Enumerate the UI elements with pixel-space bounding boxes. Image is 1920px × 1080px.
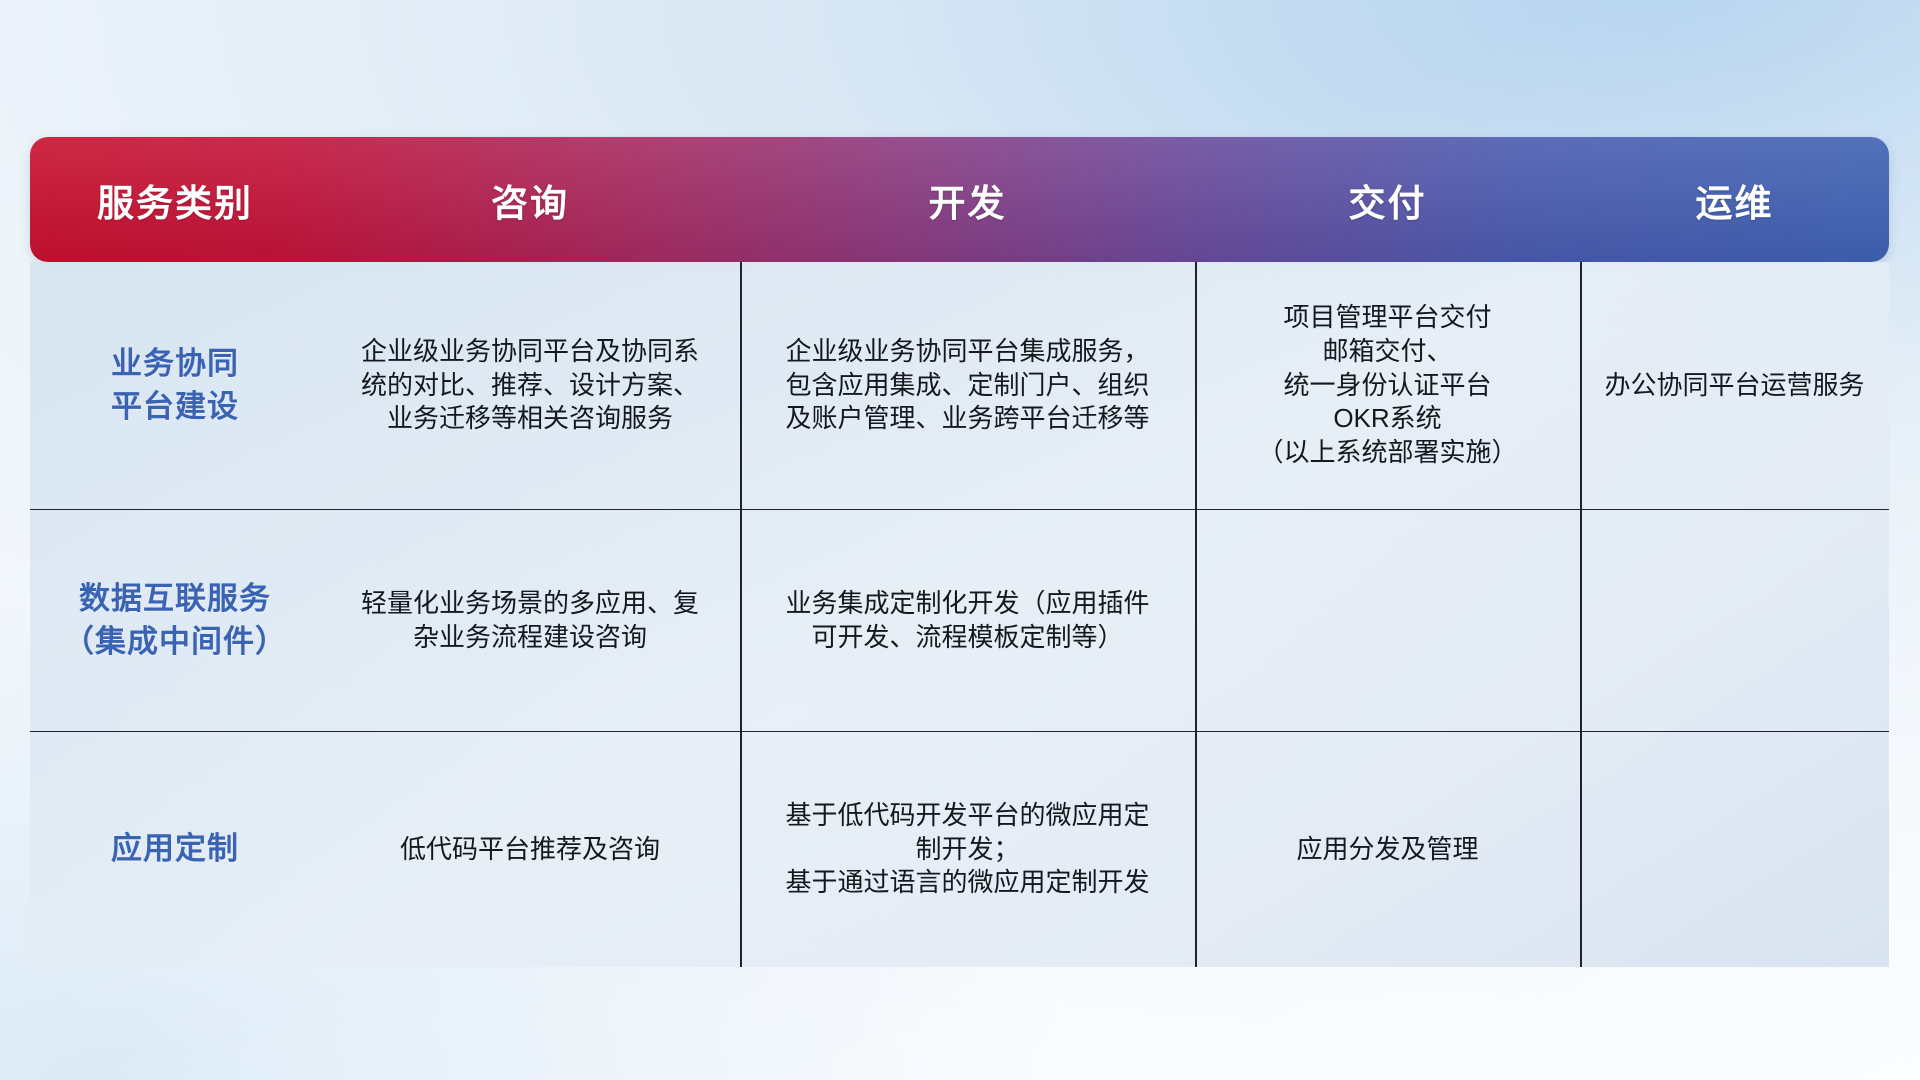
- table-row: 应用定制 低代码平台推荐及咨询 基于低代码开发平台的微应用定 制开发； 基于通过…: [30, 732, 1889, 967]
- cell-development: 基于低代码开发平台的微应用定 制开发； 基于通过语言的微应用定制开发: [740, 732, 1195, 967]
- column-divider-consulting-development: [740, 732, 742, 967]
- column-divider-development-delivery: [1195, 510, 1197, 731]
- column-divider-consulting-development: [740, 510, 742, 731]
- cell-delivery: 项目管理平台交付 邮箱交付、 统一身份认证平台 OKR系统 （以上系统部署实施）: [1195, 262, 1580, 509]
- table-row: 业务协同 平台建设 企业级业务协同平台及协同系 统的对比、推荐、设计方案、 业务…: [30, 262, 1889, 510]
- column-header-category: 服务类别: [30, 173, 320, 227]
- column-divider-delivery-operations: [1580, 262, 1582, 509]
- cell-category: 应用定制: [30, 732, 320, 967]
- cell-development: 业务集成定制化开发（应用插件 可开发、流程模板定制等）: [740, 510, 1195, 731]
- service-matrix-table: 服务类别 咨询 开发 交付 运维 业务协同 平台建设 企业级业务协同平台及协同系…: [30, 137, 1889, 967]
- table-row: 数据互联服务 （集成中间件） 轻量化业务场景的多应用、复 杂业务流程建设咨询 业…: [30, 510, 1889, 732]
- cell-delivery: 应用分发及管理: [1195, 732, 1580, 967]
- column-header-consulting: 咨询: [320, 173, 740, 227]
- cell-consulting: 低代码平台推荐及咨询: [320, 732, 740, 967]
- cell-operations: 办公协同平台运营服务: [1580, 262, 1889, 509]
- column-divider-consulting-development: [740, 262, 742, 509]
- column-divider-delivery-operations: [1580, 732, 1582, 967]
- column-header-delivery: 交付: [1195, 173, 1580, 227]
- cell-consulting: 轻量化业务场景的多应用、复 杂业务流程建设咨询: [320, 510, 740, 731]
- column-header-operations: 运维: [1580, 173, 1889, 227]
- table-body: 业务协同 平台建设 企业级业务协同平台及协同系 统的对比、推荐、设计方案、 业务…: [30, 262, 1889, 967]
- column-divider-development-delivery: [1195, 262, 1197, 509]
- cell-operations: [1580, 510, 1889, 731]
- cell-delivery: [1195, 510, 1580, 731]
- cell-category: 业务协同 平台建设: [30, 262, 320, 509]
- cell-consulting: 企业级业务协同平台及协同系 统的对比、推荐、设计方案、 业务迁移等相关咨询服务: [320, 262, 740, 509]
- cell-operations: [1580, 732, 1889, 967]
- cell-development: 企业级业务协同平台集成服务， 包含应用集成、定制门户、组织 及账户管理、业务跨平…: [740, 262, 1195, 509]
- column-divider-delivery-operations: [1580, 510, 1582, 731]
- column-divider-development-delivery: [1195, 732, 1197, 967]
- column-header-development: 开发: [740, 173, 1195, 227]
- cell-category: 数据互联服务 （集成中间件）: [30, 510, 320, 731]
- table-header-row: 服务类别 咨询 开发 交付 运维: [30, 137, 1889, 262]
